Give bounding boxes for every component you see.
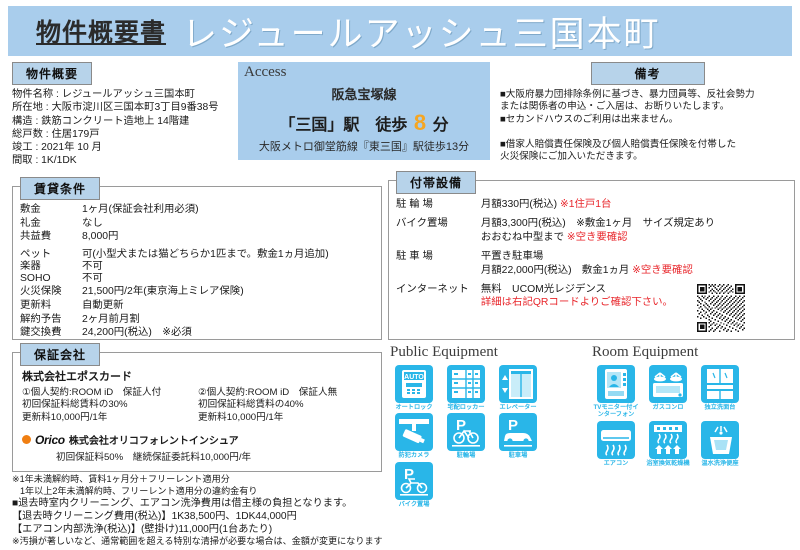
svg-text:P: P	[508, 417, 518, 434]
rental-row-key: 火災保険	[20, 285, 82, 299]
equipment-label: バイク置場	[390, 501, 438, 508]
rental-row: 更新料 自動更新	[20, 299, 374, 313]
access-rail-line: 阪急宝塚線	[238, 84, 490, 103]
public-equipment-title: Public Equipment	[390, 344, 590, 361]
guarantor-badge: 保証会社	[20, 343, 100, 366]
guarantor-company-name: 株式会社エポスカード	[22, 368, 374, 384]
overview-line: 間取 : 1K/1DK	[12, 154, 242, 167]
guarantor-plan-left: ①個人契約:ROOM iD 保証人付 初回保証料総賃料の30% 更新料10,00…	[22, 387, 198, 424]
rental-row: 敷金 1ヶ月(保証会社利用必須)	[20, 203, 374, 217]
room-equipment-grid: TVモニター付インターフォン ガ	[592, 365, 797, 469]
overview-line: 構造 : 鉄筋コンクリート造地上 14階建	[12, 115, 242, 128]
header-banner: 物件概要書 レジュールアッシュ三国本町	[8, 6, 792, 56]
overview-line: 物件名称 : レジュールアッシュ三国本町	[12, 88, 242, 101]
facility-key: 駐 車 場	[396, 250, 478, 263]
tv-intercom-icon	[597, 365, 635, 403]
rental-row-value: 可(小型犬または猫どちらか1匹まで。敷金1ヵ月追加)	[82, 249, 329, 261]
rental-row-value: 21,500円/2年(東京海上ミレア保険)	[82, 285, 244, 299]
rental-row-key: 楽器	[20, 261, 82, 273]
footnote-line: 【退去時クリーニング費用(税込)】1K38,500円、1DK44,000円	[12, 510, 412, 523]
guarantor-plan-right: ②個人契約:ROOM iD 保証人無 初回保証料総賃料の40% 更新料10,00…	[198, 387, 374, 424]
facility-line: 月額22,000円(税込) 敷金1ヵ月	[481, 265, 629, 276]
page-title: レジュールアッシュ三国本町	[182, 6, 661, 57]
footnote-line: ■退去時室内クリーニング、エアコン洗浄費用は借主様の負担となります。	[12, 497, 412, 510]
equipment-label: ガスコンロ	[644, 404, 692, 411]
access-secondary-line: 大阪メトロ御堂筋線『東三国』駅徒歩13分	[238, 138, 490, 154]
equipment-label: エレベーター	[494, 404, 542, 411]
rental-conditions-section: 賃貸条件 敷金 1ヶ月(保証会社利用必須) 礼金 なし 共益費 8,000円 ペ…	[12, 186, 380, 338]
facility-row: 駐 輪 場 月額330円(税込) ※1住戸1台	[396, 198, 789, 211]
remark-item: ■借家人賠償責任保険及び個人賠償責任保険を付帯した	[500, 139, 795, 151]
facility-note: ※空き要確認	[632, 265, 693, 276]
qr-code-graphic	[697, 284, 745, 332]
motorcycle-parking-icon: P	[395, 462, 433, 500]
facility-value: 月額330円(税込) ※1住戸1台	[481, 198, 612, 211]
equipment-item: P 駐輪場	[442, 413, 490, 459]
orico-terms: 初回保証料50% 継続保証委託料10,000円/年	[56, 449, 374, 463]
equipment-label: エアコン	[592, 460, 640, 467]
delivery-locker-icon	[447, 365, 485, 403]
public-equipment-section: Public Equipment AUTO オートロック	[390, 344, 590, 510]
access-walk-minutes: 8	[412, 110, 428, 135]
facility-key: 駐 輪 場	[396, 198, 478, 211]
security-camera-icon	[395, 413, 433, 451]
rental-row-value: なし	[82, 217, 103, 231]
access-section: Access 阪急宝塚線 「三国」駅 徒歩 8 分 大阪メトロ御堂筋線『東三国』…	[238, 62, 490, 160]
overview-line: 竣工 : 2021年 10 月	[12, 141, 242, 154]
equipment-label: 温水洗浄便座	[696, 460, 744, 467]
public-equipment-grid: AUTO オートロック	[390, 365, 590, 510]
rental-row: ペット 可(小型犬または猫どちらか1匹まで。敷金1ヵ月追加)	[20, 249, 374, 261]
remarks-badge: 備考	[591, 62, 705, 85]
access-label: Access	[244, 64, 286, 81]
rental-row: 楽器 不可	[20, 261, 374, 273]
equipment-item: P 駐車場	[494, 413, 542, 459]
orico-logo-row: Orico 株式会社オリコフォレントインシュア	[22, 432, 374, 447]
access-station-walk: 「三国」駅 徒歩 8 分	[238, 110, 490, 136]
footnote-line: ※汚損が著しいなど、通常範囲を超える特別な清掃が必要な場合は、金額が変更になりま…	[12, 536, 412, 548]
orico-company-name: 株式会社オリコフォレントインシュア	[69, 432, 239, 447]
remark-item: 火災保険にご加入いただきます。	[500, 151, 795, 163]
access-station-prefix: 「三国」駅 徒歩	[279, 117, 407, 134]
equipment-label: 独立洗面台	[696, 404, 744, 411]
facility-value: 平置き駐車場 月額22,000円(税込) 敷金1ヵ月 ※空き要確認	[481, 250, 693, 277]
facility-note: 詳細は右記QRコードよりご確認下さい。	[481, 297, 673, 308]
footnote-line: 1年以上2年未満解約時、フリーレント適用分の違約金有り	[12, 486, 412, 498]
facility-line: 月額3,300円(税込) ※敷金1ヶ月 サイズ規定あり	[481, 218, 715, 229]
facility-key: バイク置場	[396, 217, 478, 230]
equipment-item: ガスコンロ	[644, 365, 692, 419]
auto-lock-icon: AUTO	[395, 365, 433, 403]
facility-line: おおむね中型まで	[481, 232, 564, 243]
remarks-section: 備考 ■大阪府暴力団排除条例に基づき、暴力団員等、反社会勢力 または関係者の申込…	[500, 62, 795, 163]
plan-line: ①個人契約:ROOM iD 保証人付	[22, 387, 198, 399]
facility-key: インターネット	[396, 283, 478, 296]
remark-item: ■セカンドハウスのご利用は出来ません。	[500, 114, 795, 126]
rental-row-value: 2ヶ月前月割	[82, 313, 140, 327]
equipment-label: 駐輪場	[442, 452, 490, 459]
rental-row-value: 24,200円(税込) ※必須	[82, 326, 192, 340]
facility-line: 月額330円(税込)	[481, 199, 557, 210]
rental-row: 共益費 8,000円	[20, 230, 374, 244]
access-station-suffix: 分	[433, 117, 449, 134]
car-parking-icon: P	[499, 413, 537, 451]
equipment-label: TVモニター付インターフォン	[592, 404, 640, 419]
facility-value: 月額3,300円(税込) ※敷金1ヶ月 サイズ規定あり おおむね中型まで ※空き…	[481, 217, 715, 244]
facilities-badge: 付帯設備	[396, 171, 476, 194]
equipment-label: 防犯カメラ	[390, 452, 438, 459]
equipment-label: オートロック	[390, 404, 438, 411]
elevator-icon	[499, 365, 537, 403]
facility-value: 無料 UCOM光レジデンス 詳細は右記QRコードよりご確認下さい。	[481, 283, 673, 310]
svg-text:AUTO: AUTO	[404, 374, 424, 381]
guarantor-content: 株式会社エポスカード ①個人契約:ROOM iD 保証人付 初回保証料総賃料の3…	[22, 368, 374, 463]
rental-row-key: ペット	[20, 249, 82, 261]
facility-row: バイク置場 月額3,300円(税込) ※敷金1ヶ月 サイズ規定あり おおむね中型…	[396, 217, 789, 244]
equipment-item: 宅配ロッカー	[442, 365, 490, 411]
plan-line: ②個人契約:ROOM iD 保証人無	[198, 387, 374, 399]
gas-stove-icon	[649, 365, 687, 403]
footnote-line: ※1年未満解約時、賃料1ヶ月分＋フリーレント適用分	[12, 474, 412, 486]
equipment-item: 独立洗面台	[696, 365, 744, 419]
rental-row: 礼金 なし	[20, 217, 374, 231]
washlet-icon	[701, 421, 739, 459]
property-overview-section: 物件概要 物件名称 : レジュールアッシュ三国本町 所在地 : 大阪市淀川区三国…	[12, 62, 242, 168]
rental-row-value: 不可	[82, 261, 103, 273]
equipment-item: 浴室換気乾燥機	[644, 421, 692, 467]
rental-row-key: 共益費	[20, 230, 82, 244]
air-conditioner-icon	[597, 421, 635, 459]
room-equipment-section: Room Equipment TVモ	[592, 344, 797, 469]
remark-spacer	[500, 126, 795, 138]
rental-row-value: 8,000円	[82, 230, 118, 244]
equipment-item: AUTO オートロック	[390, 365, 438, 411]
remark-item: ■大阪府暴力団排除条例に基づき、暴力団員等、反社会勢力	[500, 89, 795, 101]
bicycle-parking-icon: P	[447, 413, 485, 451]
equipment-label: 宅配ロッカー	[442, 404, 490, 411]
rental-conditions-rows: 敷金 1ヶ月(保証会社利用必須) 礼金 なし 共益費 8,000円 ペット 可(…	[20, 203, 374, 340]
plan-line: 更新料10,000円/1年	[22, 412, 198, 424]
washbasin-icon	[701, 365, 739, 403]
rental-row-key: 更新料	[20, 299, 82, 313]
equipment-item: 温水洗浄便座	[696, 421, 744, 467]
equipment-item: エレベーター	[494, 365, 542, 411]
equipment-item: P バイク置場	[390, 462, 438, 508]
facility-note: ※1住戸1台	[560, 199, 611, 210]
rental-row: 火災保険 21,500円/2年(東京海上ミレア保険)	[20, 285, 374, 299]
footnote-line: 【エアコン内部洗浄(税込)】(壁掛け)11,000円(1台あたり)	[12, 523, 412, 536]
document-type-label: 物件概要書	[36, 13, 166, 49]
plan-line: 更新料10,000円/1年	[198, 412, 374, 424]
rental-row-key: 礼金	[20, 217, 82, 231]
guarantor-section: 保証会社 株式会社エポスカード ①個人契約:ROOM iD 保証人付 初回保証料…	[12, 352, 380, 470]
guarantor-plans: ①個人契約:ROOM iD 保証人付 初回保証料総賃料の30% 更新料10,00…	[22, 387, 374, 424]
orico-brand-label: Orico	[35, 433, 65, 447]
orico-dot-icon	[22, 435, 31, 444]
overview-line: 所在地 : 大阪市淀川区三国本町3丁目9番38号	[12, 101, 242, 114]
equipment-label: 駐車場	[494, 452, 542, 459]
overview-badge: 物件概要	[12, 62, 92, 85]
plan-line: 初回保証料総賃料の30%	[22, 399, 198, 411]
equipment-item: 防犯カメラ	[390, 413, 438, 459]
rental-conditions-badge: 賃貸条件	[20, 177, 100, 200]
rental-row-key: 鍵交換費	[20, 326, 82, 340]
room-equipment-title: Room Equipment	[592, 344, 797, 361]
rental-row-value: 1ヶ月(保証会社利用必須)	[82, 203, 199, 217]
facility-note: ※空き要確認	[567, 232, 628, 243]
rental-row-key: 敷金	[20, 203, 82, 217]
rental-row-key: SOHO	[20, 273, 82, 285]
footnotes-section: ※1年未満解約時、賃料1ヶ月分＋フリーレント適用分 1年以上2年未満解約時、フリ…	[12, 474, 412, 548]
property-summary-sheet: 物件概要書 レジュールアッシュ三国本町 物件概要 物件名称 : レジュールアッシ…	[0, 0, 800, 550]
bath-dryer-icon	[649, 421, 687, 459]
rental-row-value: 自動更新	[82, 299, 124, 313]
rental-row: SOHO 不可	[20, 273, 374, 285]
facility-line: 無料 UCOM光レジデンス	[481, 284, 606, 295]
remark-item: または関係者の申込・ご入居は、お断りいたします。	[500, 101, 795, 113]
equipment-label: 浴室換気乾燥機	[644, 460, 692, 467]
equipment-item: エアコン	[592, 421, 640, 467]
equipment-item: TVモニター付インターフォン	[592, 365, 640, 419]
rental-row-value: 不可	[82, 273, 103, 285]
plan-line: 初回保証料総賃料の40%	[198, 399, 374, 411]
overview-line: 総戸数 : 住居179戸	[12, 128, 242, 141]
rental-row: 解約予告 2ヶ月前月割	[20, 313, 374, 327]
facility-row: 駐 車 場 平置き駐車場 月額22,000円(税込) 敷金1ヵ月 ※空き要確認	[396, 250, 789, 277]
facility-line: 平置き駐車場	[481, 251, 543, 262]
facilities-section: 付帯設備 駐 輪 場 月額330円(税込) ※1住戸1台 バイク置場 月額3,3…	[388, 180, 793, 338]
rental-row-key: 解約予告	[20, 313, 82, 327]
internet-qr-code[interactable]	[697, 284, 745, 332]
rental-row: 鍵交換費 24,200円(税込) ※必須	[20, 326, 374, 340]
